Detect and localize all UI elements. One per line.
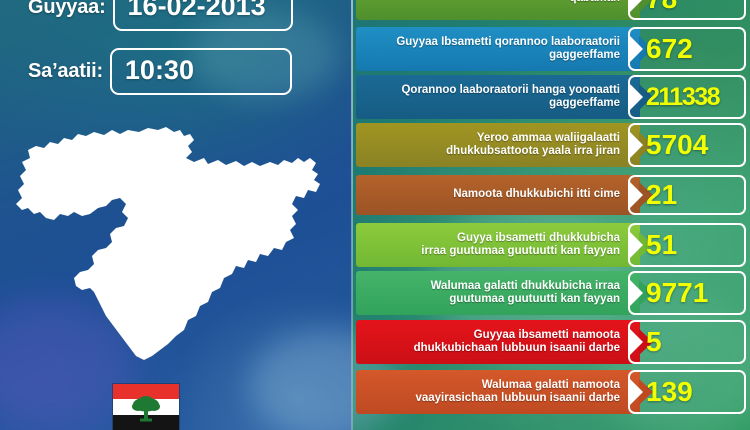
value-notch-icon — [628, 130, 643, 160]
stat-value: 211338 — [646, 85, 719, 110]
value-notch-icon — [628, 327, 643, 357]
value-notch-icon — [628, 82, 643, 112]
stat-label: Guyyaa Ibsametti qorannoo laaboraatorii … — [396, 36, 620, 63]
date-row: Guyyaa: 16-02-2013 — [28, 0, 293, 31]
stat-label-bar: Qorannoo laaboraatorii hanga yoonaatti g… — [356, 75, 640, 119]
stat-row: Walumaa galatti dhukkubicha irraa guutum… — [356, 271, 748, 315]
stat-value: 21 — [646, 181, 677, 209]
date-value: 16-02-2013 — [113, 0, 293, 31]
stat-value: 9771 — [646, 279, 708, 307]
stat-value: 5704 — [646, 131, 708, 159]
stat-label-bar: Yeroo ammaa waliigalaatti dhukkubsattoot… — [356, 123, 640, 167]
oromia-region-map — [8, 118, 344, 378]
stat-row: Guyyaa Ibsametti qorannoo laaboraatorii … — [356, 27, 748, 71]
stat-value-box: 21 — [628, 175, 746, 215]
stat-value-box: 78 — [628, 0, 746, 20]
stat-value: 51 — [646, 231, 677, 259]
stat-value-box: 51 — [628, 223, 746, 267]
stat-value-box: 9771 — [628, 271, 746, 315]
stat-row: Guyyaa ibsametti namoota dhukkubichaan l… — [356, 320, 748, 364]
stat-value: 139 — [646, 378, 693, 406]
covid-dashboard-screenshot: Guyyaa: 16-02-2013 Sa’aatii: 10:30 — [0, 0, 750, 430]
stat-label-bar: Namoota dhukkubichi itti cime — [356, 175, 640, 215]
time-label: Sa’aatii: — [28, 60, 103, 83]
stat-label-bar: Guyyaa Ibsametti qorannoo laaboraatorii … — [356, 27, 640, 71]
stat-label-bar: Walumaa galatti dhukkubicha irraa guutum… — [356, 271, 640, 315]
stat-value-box: 672 — [628, 27, 746, 71]
value-notch-icon — [628, 377, 643, 407]
value-notch-icon — [628, 0, 643, 14]
stat-row: qabaman78 — [356, 0, 748, 20]
oromia-regional-flag — [113, 384, 179, 430]
stat-value-box: 139 — [628, 370, 746, 414]
stat-label-bar: Guyya ibsametti dhukkubicha irraa guutum… — [356, 223, 640, 267]
map-silhouette-path — [16, 127, 320, 360]
stat-value: 672 — [646, 35, 693, 63]
stat-label: Walumaa galatti namoota vaayirasichaan l… — [415, 379, 620, 406]
stat-row: Yeroo ammaa waliigalaatti dhukkubsattoot… — [356, 123, 748, 167]
stat-row: Walumaa galatti namoota vaayirasichaan l… — [356, 370, 748, 414]
stat-value-box: 5704 — [628, 123, 746, 167]
stat-label: Namoota dhukkubichi itti cime — [453, 188, 620, 202]
value-notch-icon — [628, 230, 643, 260]
stat-label: Walumaa galatti dhukkubicha irraa guutum… — [431, 280, 620, 307]
value-notch-icon — [628, 34, 643, 64]
stat-value-box: 5 — [628, 320, 746, 364]
stat-value: 78 — [646, 0, 677, 13]
stat-value-box: 211338 — [628, 75, 746, 119]
stat-label: Guyya ibsametti dhukkubicha irraa guutum… — [421, 232, 620, 259]
stat-row: Namoota dhukkubichi itti cime21 — [356, 175, 748, 215]
time-value: 10:30 — [110, 48, 292, 95]
date-label: Guyyaa: — [28, 0, 106, 19]
stat-value: 5 — [646, 328, 662, 356]
stat-label: Yeroo ammaa waliigalaatti dhukkubsattoot… — [446, 132, 620, 159]
stat-label-bar: Walumaa galatti namoota vaayirasichaan l… — [356, 370, 640, 414]
time-row: Sa’aatii: 10:30 — [28, 48, 292, 95]
stat-row: Guyya ibsametti dhukkubicha irraa guutum… — [356, 223, 748, 267]
value-notch-icon — [628, 278, 643, 308]
value-notch-icon — [628, 180, 643, 210]
stat-label-bar: qabaman — [356, 0, 640, 20]
stat-label: qabaman — [570, 0, 621, 6]
stat-label-bar: Guyyaa ibsametti namoota dhukkubichaan l… — [356, 320, 640, 364]
stat-label: Guyyaa ibsametti namoota dhukkubichaan l… — [414, 329, 620, 356]
odaa-tree-icon — [131, 395, 161, 423]
stat-label: Qorannoo laaboraatorii hanga yoonaatti g… — [401, 84, 620, 111]
statistics-list: qabaman78Guyyaa Ibsametti qorannoo laabo… — [352, 0, 750, 430]
left-panel: Guyyaa: 16-02-2013 Sa’aatii: 10:30 — [0, 0, 352, 430]
stat-row: Qorannoo laaboraatorii hanga yoonaatti g… — [356, 75, 748, 119]
